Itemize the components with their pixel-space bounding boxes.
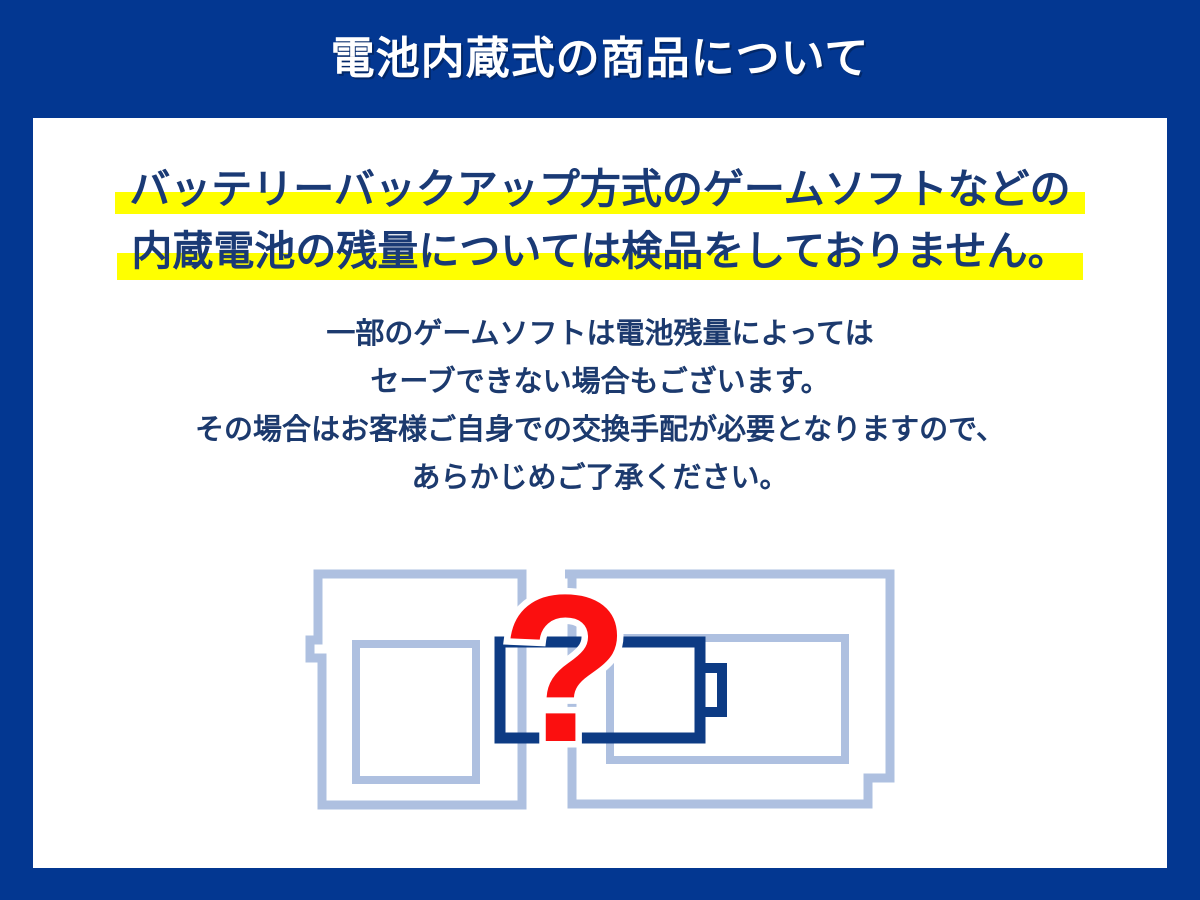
body-line-2: セーブできない場合もございます。 xyxy=(33,358,1167,406)
game-cartridge-left-icon xyxy=(310,574,522,805)
headline-line-2-text: 内蔵電池の残量については検品をしておりません。 xyxy=(127,220,1072,282)
headline-line-1-text: バッテリーバックアップ方式のゲームソフトなどの xyxy=(125,158,1074,220)
headline-line-1: バッテリーバックアップ方式のゲームソフトなどの xyxy=(33,158,1167,220)
illustration-battery-cartridges: ? xyxy=(33,538,1167,868)
page-title: 電池内蔵式の商品について xyxy=(331,37,870,81)
battery-terminal-icon xyxy=(700,668,722,712)
slide-root: 電池内蔵式の商品について バッテリーバックアップ方式のゲームソフトなどの 内蔵電… xyxy=(0,0,1200,900)
body-line-3: その場合はお客様ご自身での交換手配が必要となりますので、 xyxy=(33,406,1167,454)
headline-line-2: 内蔵電池の残量については検品をしておりません。 xyxy=(33,220,1167,282)
body-line-4: あらかじめご了承ください。 xyxy=(33,454,1167,502)
illustration-svg: ? xyxy=(260,538,940,838)
body-paragraph: 一部のゲームソフトは電池残量によっては セーブできない場合もございます。 その場… xyxy=(33,310,1167,502)
game-cartridge-left-label-icon xyxy=(356,644,476,780)
headline-block: バッテリーバックアップ方式のゲームソフトなどの 内蔵電池の残量については検品をし… xyxy=(33,158,1167,282)
body-line-1: 一部のゲームソフトは電池残量によっては xyxy=(33,310,1167,358)
content-panel: バッテリーバックアップ方式のゲームソフトなどの 内蔵電池の残量については検品をし… xyxy=(33,118,1167,868)
question-mark-icon: ? xyxy=(501,551,629,786)
title-bar: 電池内蔵式の商品について xyxy=(0,0,1200,118)
